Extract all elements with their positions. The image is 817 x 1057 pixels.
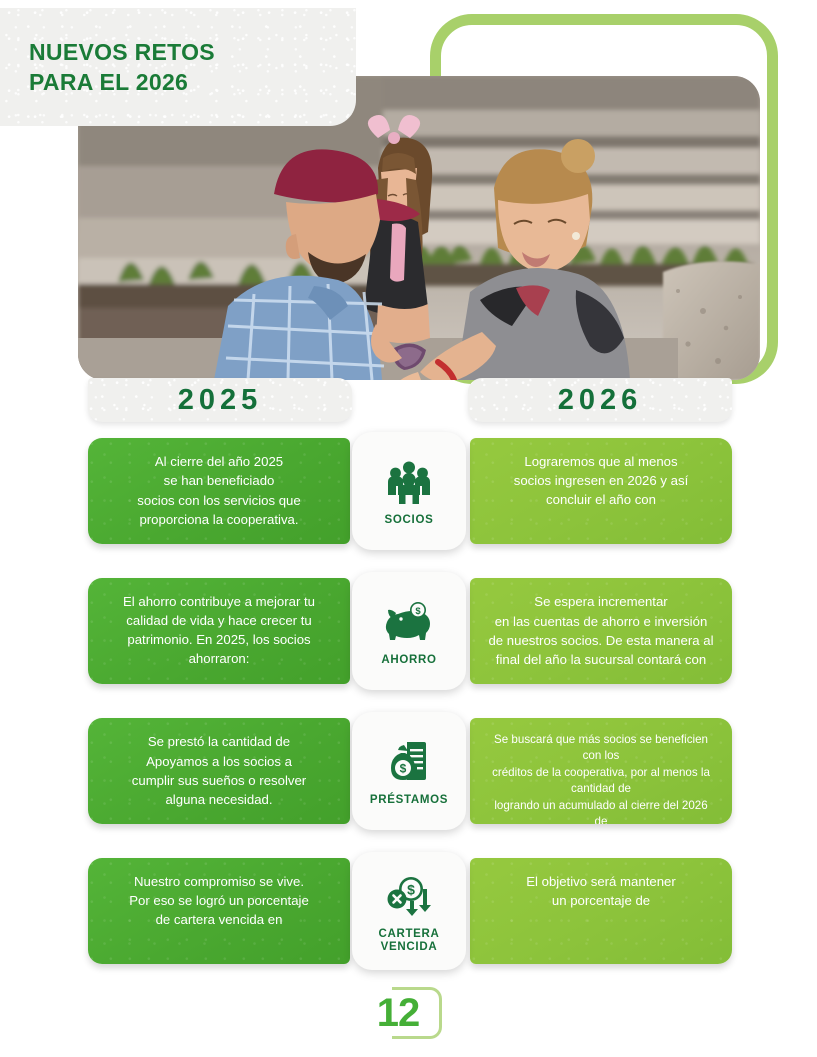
hero-section: NUEVOS RETOS PARA EL 2026 2025 2026 (0, 0, 817, 420)
panel-2026-socios: Lograremos que al menos socios ingresen … (470, 438, 732, 544)
icon-card-ahorro[interactable]: $ AHORRO (352, 572, 466, 690)
panel-2026-prestamos: Se buscará que más socios se beneficien … (470, 718, 732, 824)
panel-2025-prestamos: Se prestó la cantidad de Apoyamos a los … (88, 718, 350, 824)
icon-label-ahorro: AHORRO (381, 654, 436, 667)
panel-text-top: El ahorro contribuye a mejorar tu calida… (106, 592, 332, 669)
page-number: 12 (370, 987, 426, 1039)
svg-text:$: $ (415, 606, 421, 617)
panel-text-top: Se espera incrementar (488, 592, 714, 611)
panel-text-top: Nuestro compromiso se vive. Por eso se l… (106, 872, 332, 929)
panel-2026-ahorro: Se espera incrementar en las cuentas de … (470, 578, 732, 684)
year-label-right: 2026 (558, 384, 643, 417)
icon-label-prestamos: PRÉSTAMOS (370, 794, 448, 807)
icon-card-prestamos[interactable]: $ PRÉSTAMOS (352, 712, 466, 830)
panel-2026-cartera-vencida: El objetivo será mantener un porcentaje … (470, 858, 732, 964)
panel-text-top: El objetivo será mantener un porcentaje … (488, 872, 714, 910)
overdue-portfolio-icon: $ (386, 869, 432, 923)
panel-2025-cartera-vencida: Nuestro compromiso se vive. Por eso se l… (88, 858, 350, 964)
panel-2025-ahorro: El ahorro contribuye a mejorar tu calida… (88, 578, 350, 684)
year-label-left: 2025 (178, 384, 263, 417)
panel-2025-socios: Al cierre del año 2025 se han beneficiad… (88, 438, 350, 544)
page-title-card: NUEVOS RETOS PARA EL 2026 (0, 8, 356, 126)
svg-text:$: $ (407, 881, 415, 897)
panel-text-top: Al cierre del año 2025 se han beneficiad… (106, 452, 332, 490)
comparison-row: Al cierre del año 2025 se han beneficiad… (0, 432, 817, 550)
piggy-bank-icon: $ (385, 595, 433, 649)
panel-text-bottom: socios con los servicios que proporciona… (106, 491, 332, 529)
panel-text-top: Se prestó la cantidad de (106, 732, 332, 751)
comparison-row: Se prestó la cantidad de Apoyamos a los … (0, 712, 817, 830)
panel-text-bottom: en las cuentas de ahorro e inversión de … (488, 612, 714, 669)
comparison-rows: Al cierre del año 2025 se han beneficiad… (0, 432, 817, 992)
panel-text-bottom: logrando un acumulado al cierre del 2026… (488, 798, 714, 824)
icon-card-cartera-vencida[interactable]: $ CARTERA VENCIDA (352, 852, 466, 970)
comparison-row: Nuestro compromiso se vive. Por eso se l… (0, 852, 817, 970)
panel-text-top: Se buscará que más socios se beneficien … (488, 732, 714, 798)
page-title: NUEVOS RETOS PARA EL 2026 (29, 37, 215, 98)
panel-text-bottom: Apoyamos a los socios a cumplir sus sueñ… (106, 752, 332, 809)
icon-label-cartera-vencida: CARTERA VENCIDA (378, 928, 439, 954)
year-card-2025: 2025 (88, 378, 352, 422)
year-card-2026: 2026 (468, 378, 732, 422)
comparison-row: El ahorro contribuye a mejorar tu calida… (0, 572, 817, 690)
icon-card-socios[interactable]: SOCIOS (352, 432, 466, 550)
panel-text-top: Lograremos que al menos socios ingresen … (488, 452, 714, 509)
svg-text:$: $ (400, 762, 407, 776)
group-of-people-icon (386, 455, 432, 509)
loan-document-icon: $ (387, 735, 431, 789)
icon-label-socios: SOCIOS (385, 514, 434, 527)
page-number-badge: 12 (370, 985, 444, 1041)
